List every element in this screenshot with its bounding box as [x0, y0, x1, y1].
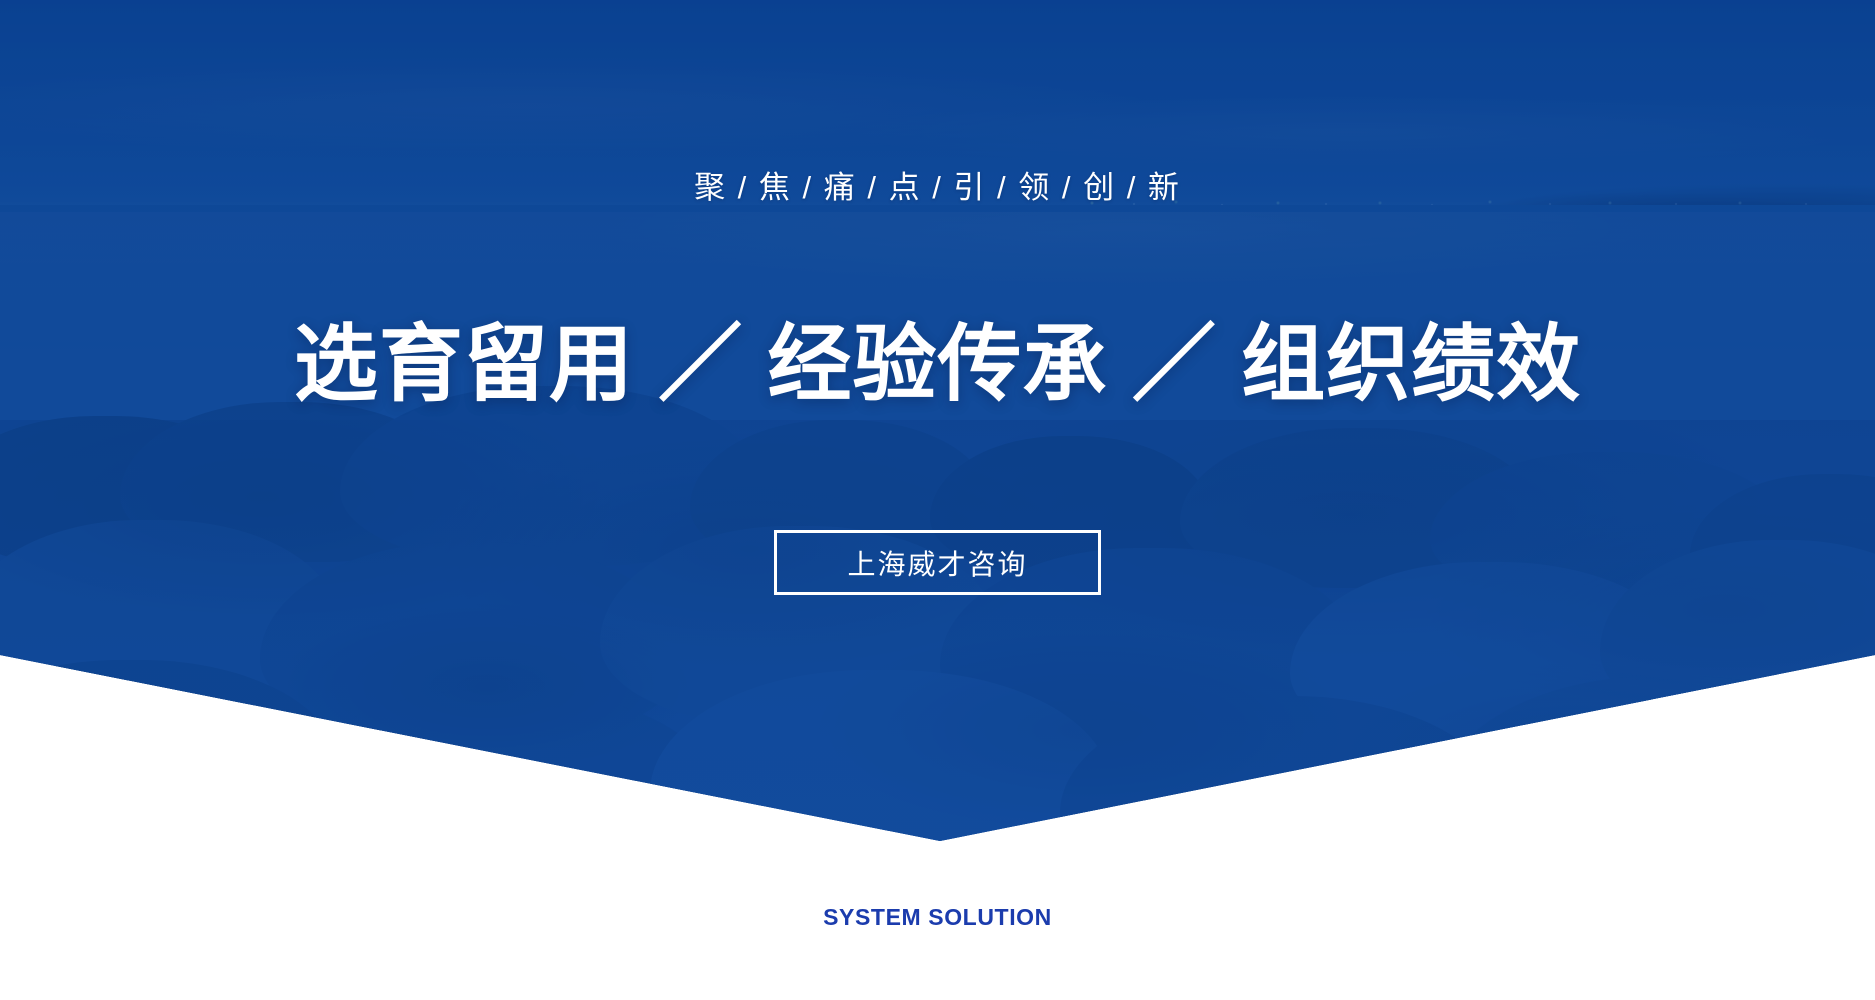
footer-caption: SYSTEM SOLUTION — [823, 904, 1052, 931]
footer-area: SYSTEM SOLUTION — [0, 841, 1875, 1000]
hero-content: 聚 / 焦 / 痛 / 点 / 引 / 领 / 创 / 新 选育留用 ／ 经验传… — [0, 0, 1875, 841]
company-cta-button[interactable]: 上海威才咨询 — [774, 530, 1101, 595]
slide-canvas: 聚 / 焦 / 痛 / 点 / 引 / 领 / 创 / 新 选育留用 ／ 经验传… — [0, 0, 1875, 1000]
hero-title: 选育留用 ／ 经验传承 ／ 组织绩效 — [0, 322, 1875, 406]
hero-subtitle: 聚 / 焦 / 痛 / 点 / 引 / 领 / 创 / 新 — [0, 172, 1875, 203]
cta-container: 上海威才咨询 — [0, 530, 1875, 595]
hero-banner: 聚 / 焦 / 痛 / 点 / 引 / 领 / 创 / 新 选育留用 ／ 经验传… — [0, 0, 1875, 841]
